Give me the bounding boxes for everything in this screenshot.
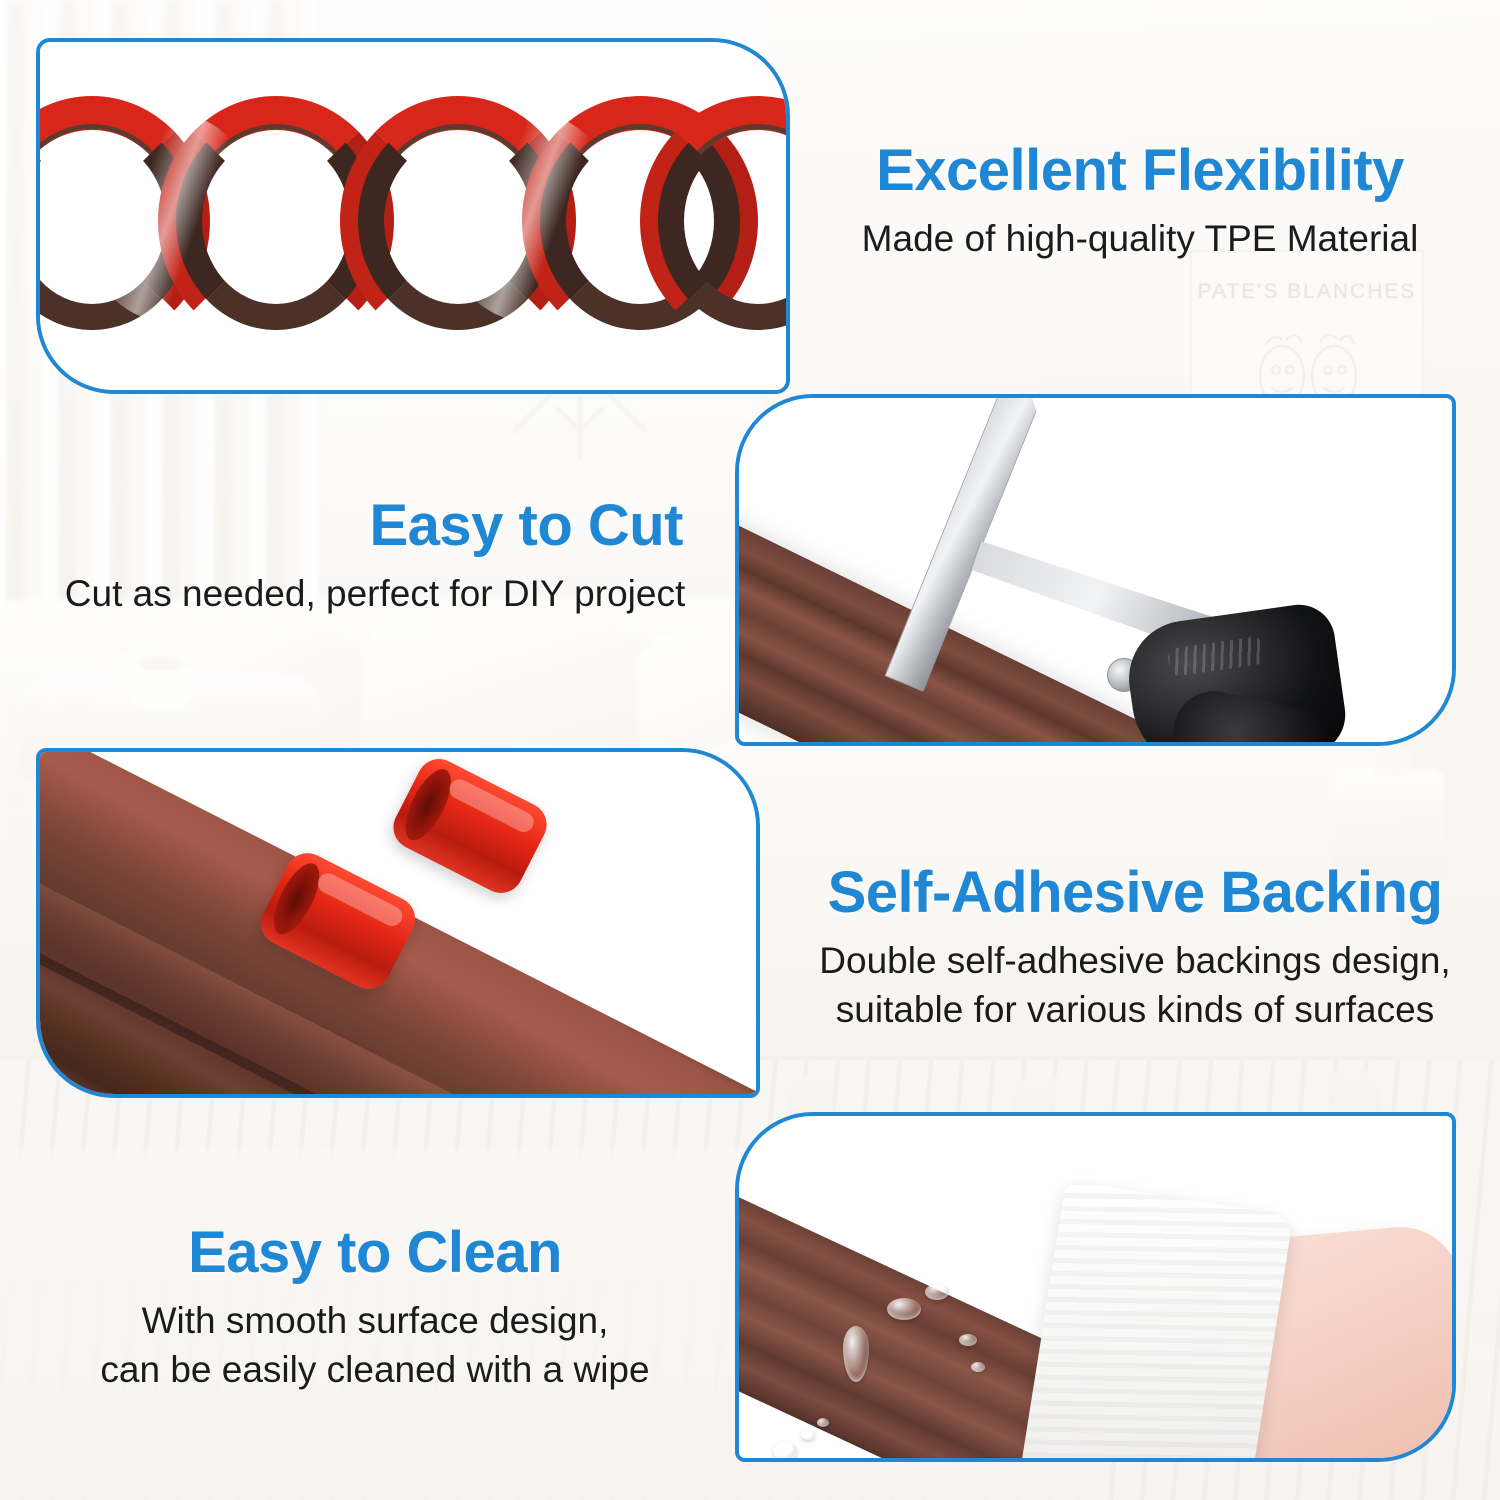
feature-body-clean: With smooth surface design, can be easil… xyxy=(20,1297,730,1395)
feature-text-adhesive: Self-Adhesive Backing Double self-adhesi… xyxy=(782,862,1488,1035)
water-droplet xyxy=(801,1430,815,1440)
feature-body-flexibility: Made of high-quality TPE Material xyxy=(790,215,1490,264)
feature-text-clean: Easy to Clean With smooth surface design… xyxy=(20,1222,730,1395)
feature-heading-flexibility: Excellent Flexibility xyxy=(790,140,1490,201)
water-droplet xyxy=(773,1442,797,1458)
water-droplet xyxy=(971,1362,985,1372)
photo-adhesive-liners xyxy=(40,752,756,1094)
feature-image-clean xyxy=(735,1112,1456,1462)
feature-image-flexibility xyxy=(36,38,790,394)
feature-text-cut: Easy to Cut Cut as needed, perfect for D… xyxy=(25,495,725,619)
feature-body-adhesive-line1: Double self-adhesive backings design, xyxy=(819,940,1450,981)
feature-body-adhesive-line2: suitable for various kinds of surfaces xyxy=(836,989,1434,1030)
feature-body-clean-line1: With smooth surface design, xyxy=(142,1300,609,1341)
feature-heading-cut: Easy to Cut xyxy=(25,495,725,556)
feature-body-adhesive: Double self-adhesive backings design, su… xyxy=(782,937,1488,1035)
feature-image-cut xyxy=(735,394,1456,746)
coil-illustration xyxy=(40,42,786,390)
photo-scissors-cutting xyxy=(739,398,1452,742)
cleaning-wipe xyxy=(1015,1180,1294,1458)
infographic-root: PATE'S BLANCHES xyxy=(0,0,1500,1500)
photo-coiled-strip xyxy=(40,42,786,390)
water-droplet xyxy=(887,1298,921,1320)
feature-heading-adhesive: Self-Adhesive Backing xyxy=(782,862,1488,923)
water-droplet xyxy=(959,1334,977,1346)
red-adhesive-liner-2 xyxy=(386,752,554,901)
photo-wiping-strip xyxy=(739,1116,1452,1458)
feature-body-clean-line2: can be easily cleaned with a wipe xyxy=(100,1349,649,1390)
water-droplet xyxy=(925,1284,949,1300)
water-droplet xyxy=(817,1418,829,1427)
feature-image-adhesive xyxy=(36,748,760,1098)
feature-body-cut: Cut as needed, perfect for DIY project xyxy=(25,570,725,619)
feature-text-flexibility: Excellent Flexibility Made of high-quali… xyxy=(790,140,1490,264)
feature-heading-clean: Easy to Clean xyxy=(20,1222,730,1283)
